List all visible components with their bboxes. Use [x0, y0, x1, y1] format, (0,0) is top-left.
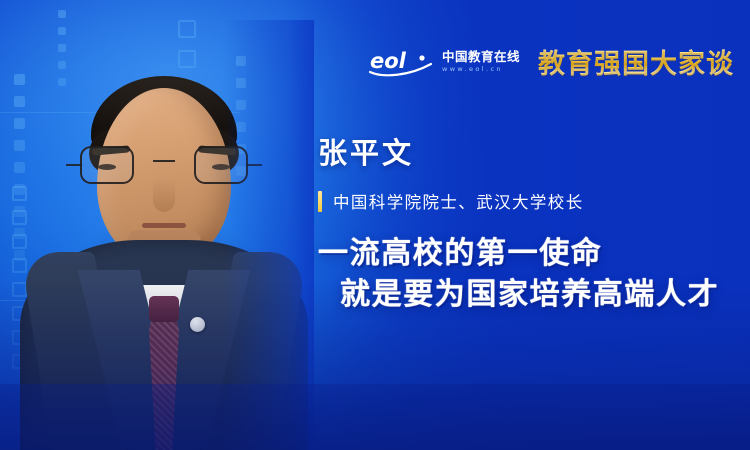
eol-logo-text-group: 中国教育在线 www.eol.cn	[442, 50, 520, 73]
role-accent-bar	[318, 191, 322, 212]
promo-banner: eol 中国教育在线 www.eol.cn 教育强国大家谈 张平文 中国科学院院…	[0, 0, 750, 450]
headline-line-2: 就是要为国家培养高端人才	[318, 274, 738, 315]
header: eol 中国教育在线 www.eol.cn 教育强国大家谈	[369, 42, 738, 81]
speaker-name: 张平文	[318, 130, 738, 172]
eol-logo-url: www.eol.cn	[442, 65, 520, 73]
program-title: 教育强国大家谈	[538, 42, 738, 81]
eol-logo-text: 中国教育在线	[442, 50, 520, 63]
decor-square	[58, 10, 66, 18]
eol-swoosh-logo-icon: eol	[369, 47, 435, 77]
svg-text:eol: eol	[370, 49, 407, 73]
eol-logo[interactable]: eol 中国教育在线 www.eol.cn	[369, 47, 520, 77]
headline-block: 一流高校的第一使命 就是要为国家培养高端人才	[318, 233, 738, 316]
background-bottom-band	[0, 384, 750, 450]
headline-line-1: 一流高校的第一使命	[318, 233, 738, 274]
speaker-text-block: 张平文 中国科学院院士、武汉大学校长 一流高校的第一使命 就是要为国家培养高端人…	[318, 130, 738, 316]
speaker-role: 中国科学院院士、武汉大学校长	[333, 189, 584, 213]
speaker-role-row: 中国科学院院士、武汉大学校长	[318, 189, 738, 213]
